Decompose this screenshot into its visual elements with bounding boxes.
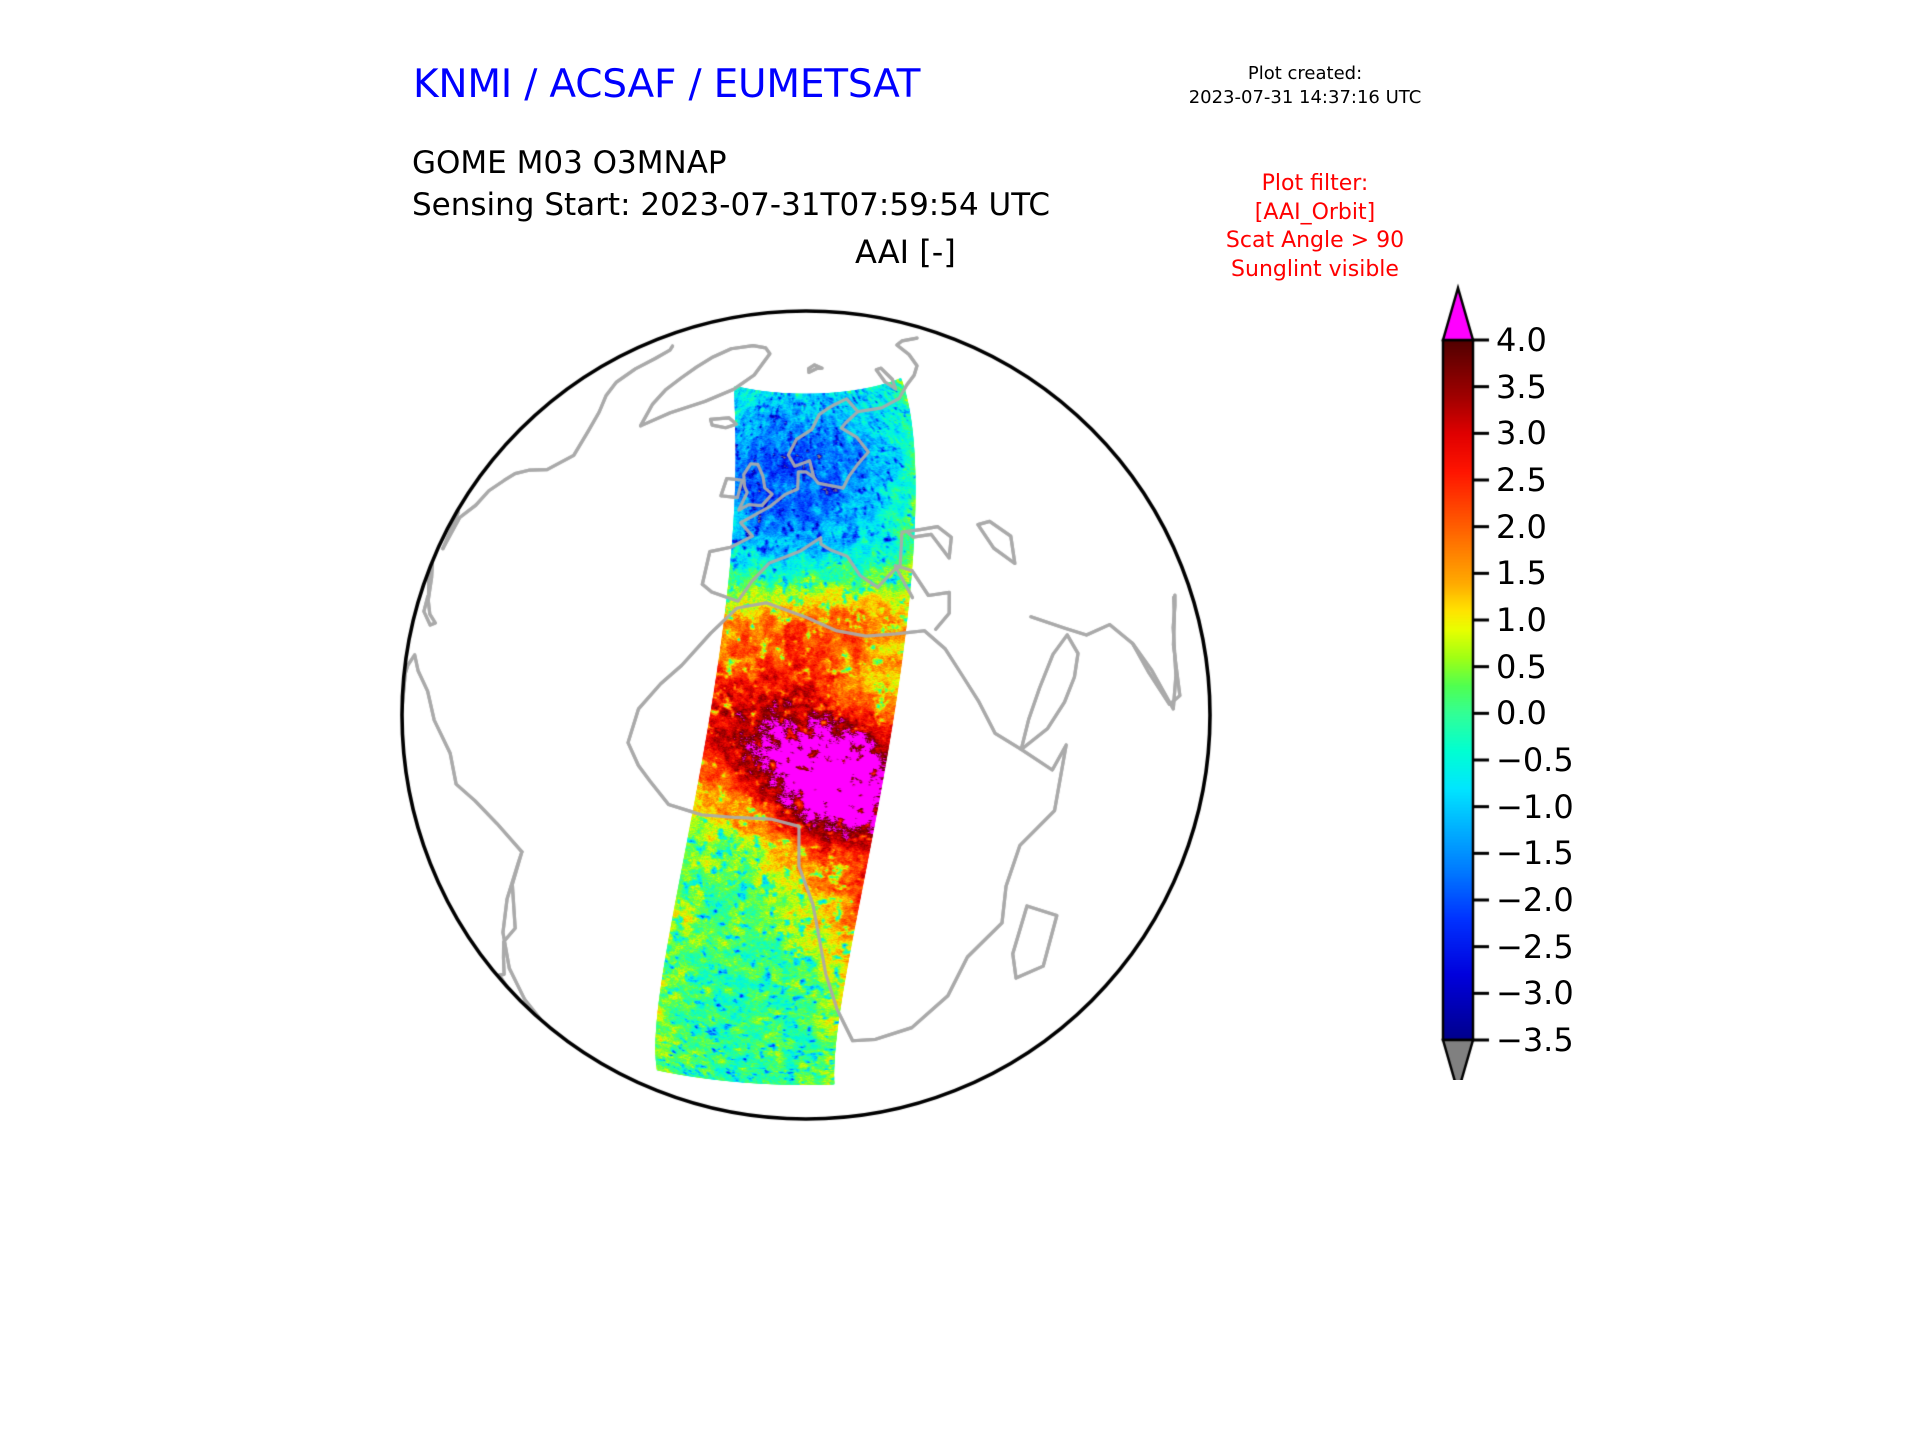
- colorbar: 4.03.53.02.52.01.51.00.50.0−0.5−1.0−1.5−…: [1430, 280, 1730, 1080]
- colorbar-tick-label: 0.5: [1496, 648, 1547, 686]
- colorbar-tick-label: 0.0: [1496, 694, 1547, 732]
- plot-filter-name: [AAI_Orbit]: [1185, 199, 1445, 228]
- map-globe-canvas: [380, 275, 1410, 1315]
- plot-created-timestamp: 2023-07-31 14:37:16 UTC: [1160, 86, 1450, 110]
- orthographic-map: [380, 275, 1410, 1315]
- colorbar-tick-label: −2.0: [1496, 881, 1574, 919]
- plot-filter-block: Plot filter: [AAI_Orbit] Scat Angle > 90…: [1185, 170, 1445, 284]
- dataset-info-block: GOME M03 O3MNAP Sensing Start: 2023-07-3…: [412, 142, 1050, 226]
- plot-filter-scat-angle: Scat Angle > 90: [1185, 227, 1445, 256]
- colorbar-tick-label: 1.5: [1496, 554, 1547, 592]
- plot-page: KNMI / ACSAF / EUMETSAT Plot created: 20…: [0, 0, 1920, 1440]
- colorbar-tick-label: 2.5: [1496, 461, 1547, 499]
- variable-title: AAI [-]: [855, 233, 956, 271]
- colorbar-tick-label: 4.0: [1496, 321, 1547, 359]
- plot-created-label: Plot created:: [1160, 62, 1450, 86]
- colorbar-tick-label: −1.5: [1496, 834, 1574, 872]
- colorbar-tick-label: −2.5: [1496, 928, 1574, 966]
- colorbar-tick-label: −3.0: [1496, 974, 1574, 1012]
- organisation-title: KNMI / ACSAF / EUMETSAT: [413, 62, 920, 107]
- colorbar-tick-label: 1.0: [1496, 601, 1547, 639]
- plot-created-block: Plot created: 2023-07-31 14:37:16 UTC: [1160, 62, 1450, 110]
- colorbar-tick-label: −3.5: [1496, 1021, 1574, 1059]
- colorbar-tick-label: −0.5: [1496, 741, 1574, 779]
- colorbar-tick-label: 2.0: [1496, 508, 1547, 546]
- instrument-product-line: GOME M03 O3MNAP: [412, 142, 1050, 184]
- sensing-start-line: Sensing Start: 2023-07-31T07:59:54 UTC: [412, 184, 1050, 226]
- colorbar-tick-label: −1.0: [1496, 788, 1574, 826]
- colorbar-tick-label: 3.0: [1496, 414, 1547, 452]
- colorbar-gradient: [1430, 280, 1500, 1080]
- colorbar-tick-label: 3.5: [1496, 368, 1547, 406]
- plot-filter-label: Plot filter:: [1185, 170, 1445, 199]
